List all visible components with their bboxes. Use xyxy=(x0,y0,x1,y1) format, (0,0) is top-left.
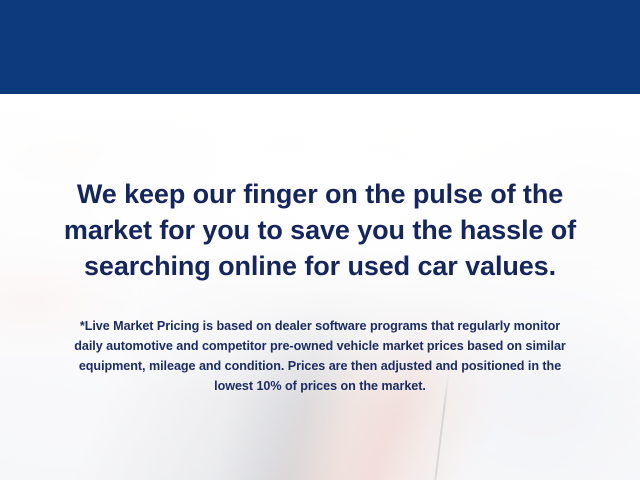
headline-paragraph: We keep our finger on the pulse of the m… xyxy=(28,176,612,284)
disclaimer-line-2: daily automotive and competitor pre-owne… xyxy=(28,336,612,356)
background-photo xyxy=(0,94,640,480)
header-band xyxy=(0,0,640,94)
headline-line-3: searching online for used car values. xyxy=(28,248,612,284)
disclaimer-line-4: lowest 10% of prices on the market. xyxy=(28,376,612,396)
disclaimer-line-1: *Live Market Pricing is based on dealer … xyxy=(28,316,612,336)
live-market-pricing-banner: Live Market Pricing* We keep our finger … xyxy=(0,0,640,480)
headline-line-1: We keep our finger on the pulse of the xyxy=(28,176,612,212)
headline-line-2: market for you to save you the hassle of xyxy=(28,212,612,248)
background-text-wash xyxy=(0,94,640,480)
disclaimer-fineprint: *Live Market Pricing is based on dealer … xyxy=(28,316,612,396)
disclaimer-line-3: equipment, mileage and condition. Prices… xyxy=(28,356,612,376)
